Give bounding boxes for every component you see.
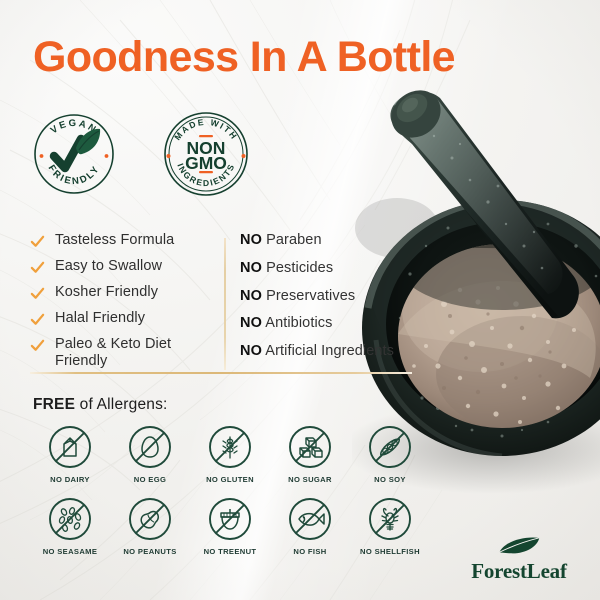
- no-label: Preservatives: [266, 288, 355, 304]
- allergen-row: NO DAIRY NO EGG: [30, 424, 430, 484]
- egg-icon: [127, 424, 173, 470]
- no-prefix: NO: [240, 315, 262, 331]
- non-gmo-badge: MADE WITH INGREDIENTS NON GMO: [162, 110, 250, 198]
- check-icon: [30, 312, 45, 327]
- poster: Goodness In A Bottle VEGAN FRIENDLY: [0, 0, 600, 600]
- feature-item: Halal Friendly: [30, 310, 208, 327]
- no-prefix: NO: [240, 260, 262, 276]
- feature-item: Tasteless Formula: [30, 232, 208, 249]
- check-icon: [30, 338, 45, 353]
- allergen-cell: NO EGG: [110, 424, 190, 484]
- allergens-heading: FREE of Allergens:: [33, 396, 168, 414]
- no-item: NO Preservatives: [240, 288, 445, 305]
- peanut-icon: [127, 496, 173, 542]
- free-from-column: NO Paraben NO Pesticides NO Preservative…: [240, 232, 445, 371]
- feature-label: Tasteless Formula: [55, 232, 174, 249]
- soy-pod-icon: [367, 424, 413, 470]
- allergen-label: NO TREENUT: [204, 547, 257, 556]
- no-item: NO Paraben: [240, 232, 445, 249]
- no-label: Paraben: [266, 232, 322, 248]
- no-item: NO Pesticides: [240, 260, 445, 277]
- allergen-cell: NO SEASAME: [30, 496, 110, 556]
- no-item: NO Artificial Ingredients: [240, 343, 445, 360]
- sesame-seeds-icon: [47, 496, 93, 542]
- allergen-cell: NO DAIRY: [30, 424, 110, 484]
- page-title: Goodness In A Bottle: [33, 36, 455, 79]
- allergen-label: NO DAIRY: [50, 475, 90, 484]
- brand-name: ForestLeaf: [455, 559, 583, 584]
- acorn-icon: [207, 496, 253, 542]
- allergen-label: NO SOY: [374, 475, 406, 484]
- no-prefix: NO: [240, 288, 262, 304]
- check-icon: [30, 234, 45, 249]
- allergen-cell: NO SHELLFISH: [350, 496, 430, 556]
- milk-carton-icon: [47, 424, 93, 470]
- feature-item: Easy to Swallow: [30, 258, 208, 275]
- allergens-heading-rest: of Allergens:: [75, 396, 167, 413]
- no-label: Antibiotics: [265, 315, 332, 331]
- allergen-cell: NO FISH: [270, 496, 350, 556]
- no-item: NO Antibiotics: [240, 315, 445, 332]
- leaf-icon: [492, 536, 547, 556]
- allergen-cell: NO SUGAR: [270, 424, 350, 484]
- svg-text:FRIENDLY: FRIENDLY: [46, 163, 103, 187]
- wheat-icon: [207, 424, 253, 470]
- allergen-cell: NO SOY: [350, 424, 430, 484]
- feature-label: Kosher Friendly: [55, 284, 158, 301]
- allergen-row: NO SEASAME NO PEANUTS: [30, 496, 430, 556]
- allergen-grid: NO DAIRY NO EGG: [30, 424, 430, 568]
- fish-icon: [287, 496, 333, 542]
- sugar-cubes-icon: [287, 424, 333, 470]
- feature-item: Paleo & Keto Diet Friendly: [30, 336, 208, 370]
- allergen-label: NO SHELLFISH: [360, 547, 420, 556]
- allergen-label: NO EGG: [134, 475, 166, 484]
- allergen-label: NO PEANUTS: [123, 547, 176, 556]
- brand-logo: ForestLeaf: [455, 536, 583, 584]
- no-prefix: NO: [240, 343, 262, 359]
- vegan-friendly-badge: VEGAN FRIENDLY: [32, 112, 116, 196]
- allergen-label: NO SUGAR: [288, 475, 332, 484]
- no-label: Artificial Ingredients: [265, 343, 394, 359]
- allergen-label: NO GLUTEN: [206, 475, 254, 484]
- allergen-cell: NO TREENUT: [190, 496, 270, 556]
- feature-item: Kosher Friendly: [30, 284, 208, 301]
- no-label: Pesticides: [266, 260, 333, 276]
- feature-label: Easy to Swallow: [55, 258, 162, 275]
- list-vertical-divider: [224, 238, 226, 370]
- svg-text:GMO: GMO: [185, 153, 227, 173]
- check-icon: [30, 260, 45, 275]
- feature-label: Halal Friendly: [55, 310, 145, 327]
- allergen-cell: NO GLUTEN: [190, 424, 270, 484]
- feature-label: Paleo & Keto Diet Friendly: [55, 336, 208, 370]
- no-prefix: NO: [240, 232, 262, 248]
- allergens-heading-bold: FREE: [33, 396, 75, 413]
- allergen-label: NO FISH: [293, 547, 326, 556]
- allergen-label: NO SEASAME: [43, 547, 98, 556]
- allergen-cell: NO PEANUTS: [110, 496, 190, 556]
- lobster-icon: [367, 496, 413, 542]
- positive-features-column: Tasteless Formula Easy to Swallow Kosher…: [30, 232, 208, 379]
- section-divider: [30, 372, 412, 374]
- check-icon: [30, 286, 45, 301]
